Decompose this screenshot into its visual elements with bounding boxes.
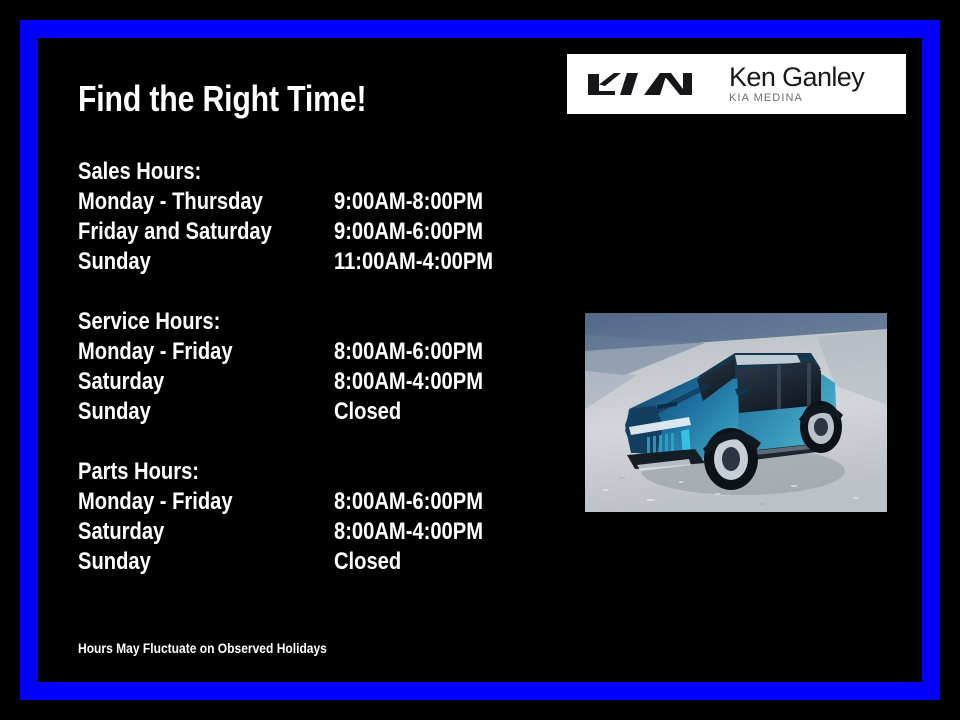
hours-time: 11:00AM-4:00PM	[334, 247, 493, 277]
hours-row: Sunday Closed	[78, 397, 538, 427]
page-title: Find the Right Time!	[78, 78, 366, 120]
hours-row: Saturday 8:00AM-4:00PM	[78, 517, 538, 547]
hours-day: Monday - Friday	[78, 337, 233, 367]
hours-day: Sunday	[78, 247, 151, 277]
hours-day: Saturday	[78, 517, 164, 547]
dealer-logo-banner: Ken Ganley KIA MEDINA	[567, 54, 906, 114]
hours-time: 8:00AM-4:00PM	[334, 517, 483, 547]
hours-time: 8:00AM-6:00PM	[334, 337, 483, 367]
hours-time: Closed	[334, 397, 401, 427]
vehicle-photo	[585, 313, 887, 512]
hours-time: Closed	[334, 547, 401, 577]
hours-time: 9:00AM-6:00PM	[334, 217, 483, 247]
hours-section-service: Service Hours: Monday - Friday 8:00AM-6:…	[78, 307, 538, 427]
hours-row: Monday - Friday 8:00AM-6:00PM	[78, 337, 538, 367]
hours-section-parts: Parts Hours: Monday - Friday 8:00AM-6:00…	[78, 457, 538, 577]
dealer-name: Ken Ganley	[729, 63, 864, 91]
hours-day: Monday - Friday	[78, 487, 233, 517]
hours-section-sales: Sales Hours: Monday - Thursday 9:00AM-8:…	[78, 157, 538, 277]
section-heading: Sales Hours:	[78, 157, 464, 187]
hours-row: Sunday Closed	[78, 547, 538, 577]
hours-day: Friday and Saturday	[78, 217, 272, 247]
hours-day: Sunday	[78, 547, 151, 577]
hours-time: 8:00AM-4:00PM	[334, 367, 483, 397]
slide-canvas: Find the Right Time! Sales Hours: Monday…	[0, 0, 960, 720]
section-heading: Service Hours:	[78, 307, 464, 337]
section-heading: Parts Hours:	[78, 457, 464, 487]
hours-day: Monday - Thursday	[78, 187, 263, 217]
hours-row: Monday - Friday 8:00AM-6:00PM	[78, 487, 538, 517]
hours-day: Sunday	[78, 397, 151, 427]
hours-row: Monday - Thursday 9:00AM-8:00PM	[78, 187, 538, 217]
holiday-disclaimer: Hours May Fluctuate on Observed Holidays	[78, 640, 327, 656]
dealer-subtitle: KIA MEDINA	[729, 91, 864, 105]
hours-day: Saturday	[78, 367, 164, 397]
hours-time: 9:00AM-8:00PM	[334, 187, 483, 217]
hours-list: Sales Hours: Monday - Thursday 9:00AM-8:…	[78, 157, 538, 577]
hours-row: Sunday 11:00AM-4:00PM	[78, 247, 538, 277]
dealer-name-block: Ken Ganley KIA MEDINA	[729, 63, 864, 105]
hours-time: 8:00AM-6:00PM	[334, 487, 483, 517]
kia-logo-icon	[585, 69, 707, 99]
hours-row: Friday and Saturday 9:00AM-6:00PM	[78, 217, 538, 247]
hours-row: Saturday 8:00AM-4:00PM	[78, 367, 538, 397]
